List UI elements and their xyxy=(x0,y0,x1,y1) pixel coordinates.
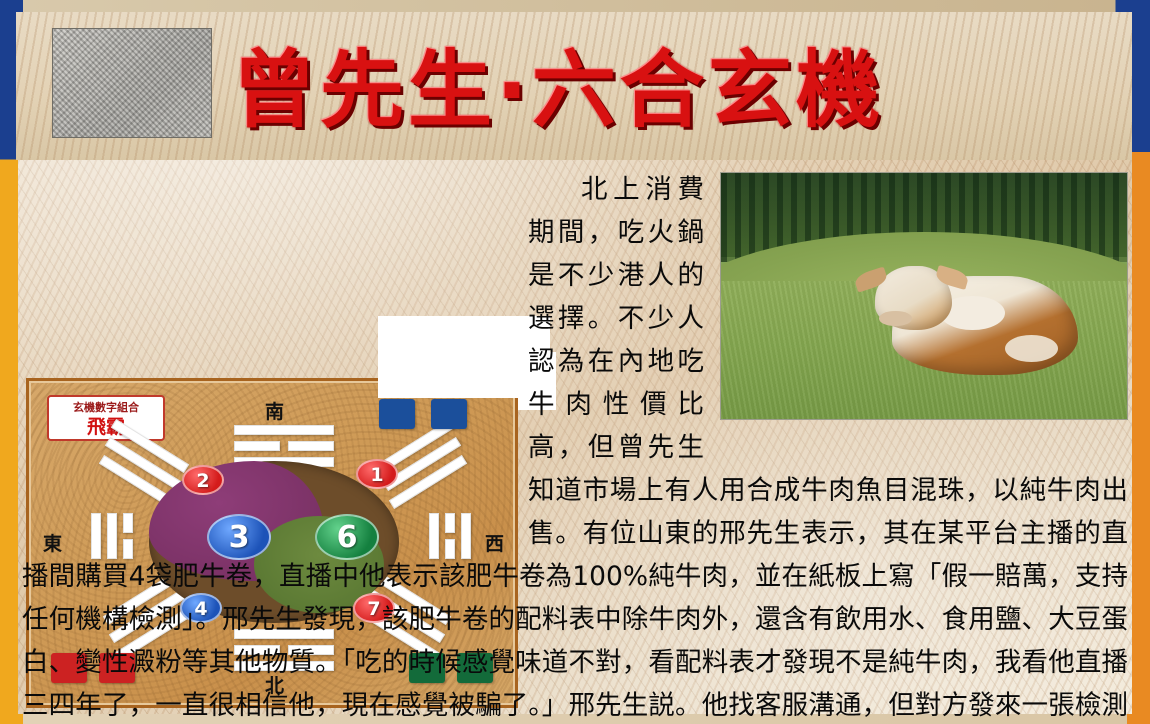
frame-left-inner-border xyxy=(10,160,18,724)
article-body: 北上消費期間，吃火鍋是不少港人的選擇。不少人認為在內地吃牛肉性價比高，但曾先生知… xyxy=(22,168,1128,724)
frame-right-border xyxy=(1132,0,1150,724)
logo-block-icon xyxy=(52,28,212,138)
diagram-float xyxy=(22,190,514,522)
page-title: 曾先生·六合玄機 xyxy=(232,34,1092,146)
cow-photo-float xyxy=(716,174,1128,424)
newspaper-page: 曾先生·六合玄機 玄機數字組合 飛霸 南 北 東 西 xyxy=(0,0,1150,724)
frame-top-border xyxy=(0,0,1150,12)
